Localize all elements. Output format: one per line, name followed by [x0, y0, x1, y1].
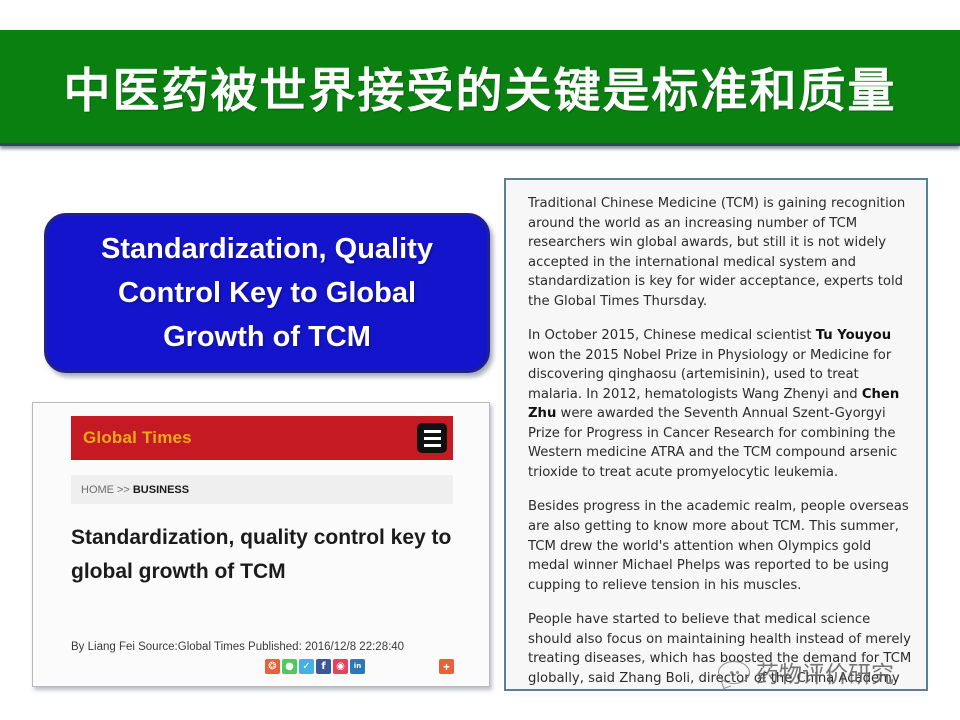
- page-title: 中医药被世界接受的关键是标准和质量: [64, 52, 897, 121]
- weibo-icon[interactable]: ◉: [333, 659, 348, 674]
- paragraph-run: were awarded the Seventh Annual Szent-Gy…: [528, 406, 897, 480]
- site-logo: Global Times: [83, 428, 192, 448]
- paragraph-run: Besides progress in the academic realm, …: [528, 499, 909, 592]
- breadcrumb-current[interactable]: BUSINESS: [133, 484, 189, 496]
- highlighted-name: Tu Youyou: [816, 328, 891, 343]
- callout-box: Standardization, Quality Control Key to …: [44, 213, 490, 373]
- facebook-icon[interactable]: f: [316, 659, 331, 674]
- article-paragraph: Besides progress in the academic realm, …: [528, 497, 914, 595]
- breadcrumb: HOME >> BUSINESS: [71, 475, 453, 504]
- share-more-button[interactable]: +: [439, 659, 454, 674]
- header-banner: 中医药被世界接受的关键是标准和质量: [0, 30, 960, 146]
- site-topbar: Global Times: [71, 416, 453, 460]
- breadcrumb-separator: >>: [117, 484, 130, 496]
- callout-line-2: Control Key to Global: [118, 271, 416, 315]
- hamburger-icon[interactable]: [417, 423, 447, 453]
- article-text-panel: Traditional Chinese Medicine (TCM) is ga…: [504, 178, 928, 691]
- article-headline: Standardization, quality control key to …: [71, 521, 471, 589]
- linkedin-icon[interactable]: in: [350, 659, 365, 674]
- paragraph-run: Traditional Chinese Medicine (TCM) is ga…: [528, 196, 905, 309]
- paragraph-run: People have started to believe that medi…: [528, 612, 911, 691]
- wechat-icon[interactable]: ●: [282, 659, 297, 674]
- article-paragraph: Traditional Chinese Medicine (TCM) is ga…: [528, 194, 914, 311]
- article-paragraph: People have started to believe that medi…: [528, 610, 914, 691]
- article-screenshot-panel: Global Times HOME >> BUSINESS Standardiz…: [32, 402, 490, 687]
- callout-line-1: Standardization, Quality: [101, 227, 433, 271]
- paragraph-run: won the 2015 Nobel Prize in Physiology o…: [528, 348, 891, 402]
- renren-icon[interactable]: ❂: [265, 659, 280, 674]
- callout-line-3: Growth of TCM: [163, 315, 371, 359]
- article-paragraph: In October 2015, Chinese medical scienti…: [528, 326, 914, 482]
- paragraph-run: In October 2015, Chinese medical scienti…: [528, 328, 816, 343]
- article-byline: By Liang Fei Source:Global Times Publish…: [71, 641, 404, 653]
- breadcrumb-home[interactable]: HOME: [81, 484, 114, 496]
- twitter-icon[interactable]: ✓: [299, 659, 314, 674]
- social-share-bar: ❂●✓f◉in: [265, 659, 365, 674]
